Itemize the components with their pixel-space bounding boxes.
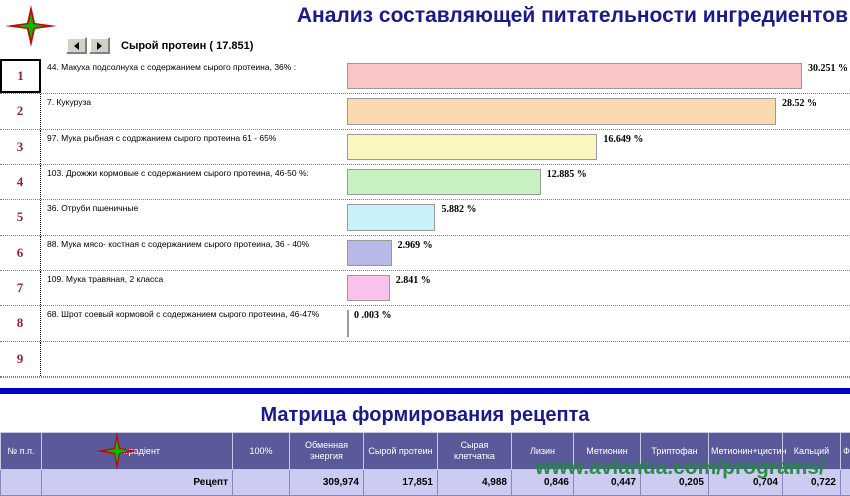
chart-row[interactable]: 868. Шрот соевый кормовой с содержанием …	[0, 306, 850, 341]
triangle-right-icon	[97, 42, 102, 50]
triangle-left-icon	[74, 42, 79, 50]
cell-value: 309,974	[290, 470, 364, 496]
ingredient-label: 109. Мука травяная, 2 класса	[47, 274, 337, 285]
nutrient-selector: Сырой протеин ( 17.851)	[66, 37, 253, 54]
value-bar	[347, 310, 349, 336]
four-point-star-icon	[95, 432, 139, 470]
chart-row[interactable]: 397. Мука рыбная с содржанием сырого про…	[0, 130, 850, 165]
chart-row[interactable]: 144. Макуха подсолнуха с содержанием сыр…	[0, 59, 850, 94]
column-header[interactable]: Метионин	[574, 433, 641, 470]
row-number: 3	[0, 130, 41, 164]
cell-value: 0,846	[512, 470, 574, 496]
chart-row[interactable]: 9	[0, 342, 850, 377]
page-title: Анализ составляющей питательности ингред…	[232, 4, 848, 32]
bar-value-label: 30.251 %	[808, 63, 848, 74]
value-bar	[347, 169, 541, 195]
next-nutrient-button[interactable]	[89, 37, 110, 54]
row-number: 6	[0, 236, 41, 270]
column-header[interactable]: Сырая клетчатка	[438, 433, 512, 470]
column-header[interactable]: Обменная энергия	[290, 433, 364, 470]
cell-value: 0,704	[709, 470, 783, 496]
row-number: 7	[0, 271, 41, 305]
bar-value-label: 12.885 %	[547, 169, 587, 180]
column-header[interactable]: Триптофан	[641, 433, 709, 470]
cell-value: 0,447	[574, 470, 641, 496]
ingredient-label: 97. Мука рыбная с содржанием сырого прот…	[47, 133, 337, 144]
cell-row-number	[1, 470, 42, 496]
cell-value: 0,722	[783, 470, 841, 496]
value-bar	[347, 63, 802, 89]
value-bar	[347, 134, 597, 160]
row-number: 2	[0, 94, 41, 128]
bar-value-label: 28.52 %	[782, 98, 817, 109]
row-number: 9	[0, 342, 41, 376]
table-row[interactable]: Рецепт309,97417,8514,9880,8460,4470,2050…	[1, 470, 850, 496]
ingredient-label: 36. Отруби пшеничные	[47, 203, 337, 214]
matrix-title: Матрица формирования рецепта	[0, 404, 850, 427]
value-bar	[347, 240, 392, 266]
chart-row[interactable]: 536. Отруби пшеничные5.882 %	[0, 200, 850, 235]
value-bar	[347, 275, 390, 301]
cell-value: 17,851	[364, 470, 438, 496]
bar-value-label: 0 .003 %	[354, 310, 392, 321]
bar-value-label: 2.841 %	[396, 275, 431, 286]
ingredient-label: 88. Мука мясо- костная с содержанием сыр…	[47, 239, 337, 250]
value-bar	[347, 98, 776, 124]
bar-value-label: 2.969 %	[398, 240, 433, 251]
bar-value-label: 5.882 %	[441, 204, 476, 215]
column-header[interactable]: Фо	[841, 433, 850, 470]
cell-value: 0,205	[641, 470, 709, 496]
nutrient-caption: Сырой протеин ( 17.851)	[121, 40, 253, 52]
bar-value-label: 16.649 %	[603, 134, 643, 145]
column-header[interactable]: 100%	[233, 433, 290, 470]
row-number: 4	[0, 165, 41, 199]
value-bar	[347, 204, 435, 230]
row-number: 1	[0, 59, 41, 93]
ingredient-label: 7. Кукуруза	[47, 97, 337, 108]
ingredient-label: 68. Шрот соевый кормовой с содержанием с…	[47, 309, 337, 320]
chart-row[interactable]: 27. Кукуруза28.52 %	[0, 94, 850, 129]
cell-value: 4,988	[438, 470, 512, 496]
row-number: 5	[0, 200, 41, 234]
column-header[interactable]: Лизин	[512, 433, 574, 470]
row-number: 8	[0, 306, 41, 340]
ingredient-label: 44. Макуха подсолнуха с содержанием сыро…	[47, 62, 337, 73]
chart-row[interactable]: 4103. Дрожжи кормовые с содержанием сыро…	[0, 165, 850, 200]
column-header[interactable]: Сырой протеин	[364, 433, 438, 470]
column-header[interactable]: Метионин+цистин	[709, 433, 783, 470]
ingredient-bar-chart: 144. Макуха подсолнуха с содержанием сыр…	[0, 59, 850, 377]
column-header[interactable]: Кальций	[783, 433, 841, 470]
cell-ingredient-name: Рецепт	[42, 470, 233, 496]
cell-percent[interactable]	[233, 470, 290, 496]
column-header[interactable]: № п.п.	[1, 433, 42, 470]
ingredient-label: 103. Дрожжи кормовые с содержанием сырог…	[47, 168, 337, 179]
chart-row[interactable]: 688. Мука мясо- костная с содержанием сы…	[0, 236, 850, 271]
chart-row[interactable]: 7109. Мука травяная, 2 класса2.841 %	[0, 271, 850, 306]
four-point-star-icon	[4, 4, 58, 48]
prev-nutrient-button[interactable]	[66, 37, 87, 54]
chart-bottom-rule	[0, 377, 850, 378]
section-divider	[0, 388, 850, 394]
cell-value	[841, 470, 850, 496]
